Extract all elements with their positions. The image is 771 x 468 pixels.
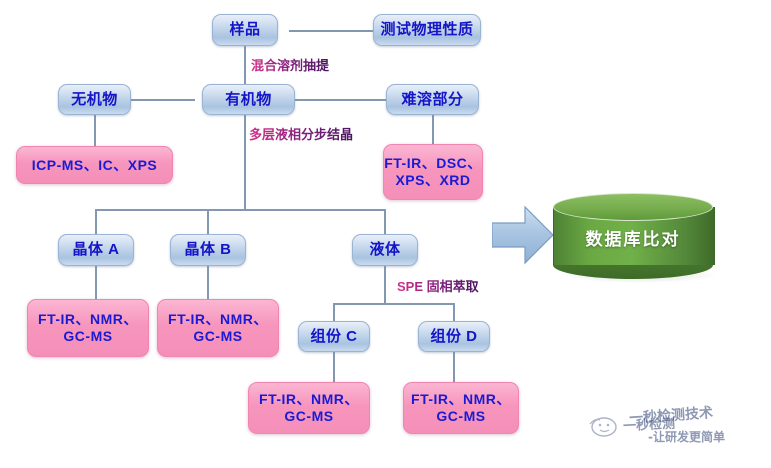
- node-insoluble-label: 难溶部分: [401, 91, 463, 109]
- connector-organic-to-insoluble: [295, 99, 386, 101]
- node-fraction-d[interactable]: 组份 D: [418, 321, 490, 352]
- techniques-inorganic-line-1: ICP-MS、IC、XPS: [32, 157, 158, 174]
- techniques-inorganic[interactable]: ICP-MS、IC、XPS: [16, 146, 173, 184]
- node-organic-label: 有机物: [225, 91, 272, 109]
- edge-label-solvent-extraction: 混合溶剂抽提: [251, 55, 329, 74]
- connector-crystal-b-to-techniques: [207, 265, 209, 299]
- node-physical-test-label: 测试物理性质: [380, 21, 473, 39]
- node-sample[interactable]: 样品: [212, 14, 278, 46]
- node-liquid[interactable]: 液体: [352, 234, 418, 266]
- connector-bus-to-crystal-b: [207, 209, 209, 235]
- techniques-fraction-d-line-2: GC-MS: [436, 408, 485, 425]
- node-physical-test[interactable]: 测试物理性质: [373, 14, 481, 46]
- node-inorganic-label: 无机物: [71, 91, 118, 109]
- techniques-fraction-c-line-2: GC-MS: [284, 408, 333, 425]
- techniques-fraction-c[interactable]: FT-IR、NMR、 GC-MS: [248, 382, 370, 434]
- watermark-face-logo-icon: [586, 412, 620, 438]
- techniques-crystal-a-line-1: FT-IR、NMR、: [38, 311, 138, 328]
- node-fraction-c-label: 组份 C: [310, 328, 357, 346]
- connector-spe-bus-bar: [333, 303, 454, 305]
- techniques-crystal-b-line-2: GC-MS: [193, 328, 242, 345]
- connector-fraction-c-to-techniques: [333, 352, 335, 382]
- edge-label-fractional-crystallization: 多层液相分步结晶: [249, 124, 353, 143]
- node-crystal-a[interactable]: 晶体 A: [58, 234, 134, 266]
- techniques-fraction-c-line-1: FT-IR、NMR、: [259, 391, 359, 408]
- database-cylinder[interactable]: 数据库比对: [553, 193, 713, 285]
- node-fraction-c[interactable]: 组份 C: [298, 321, 370, 352]
- node-crystal-a-label: 晶体 A: [72, 241, 119, 259]
- database-label: 数据库比对: [553, 215, 713, 259]
- techniques-fraction-d-line-1: FT-IR、NMR、: [411, 391, 511, 408]
- techniques-crystal-a[interactable]: FT-IR、NMR、 GC-MS: [27, 299, 149, 357]
- techniques-fraction-d[interactable]: FT-IR、NMR、 GC-MS: [403, 382, 519, 434]
- arrow-to-database-icon: [492, 205, 554, 265]
- connector-inorganic-to-organic: [131, 99, 195, 101]
- connector-spe-bus-to-fraction-c: [333, 303, 335, 321]
- flowchart-canvas: 样品 测试物理性质 无机物 有机物 难溶部分 晶体 A 晶体 B 液体 组份 C…: [0, 0, 771, 468]
- connector-crystal-a-to-techniques: [95, 265, 97, 299]
- techniques-insoluble-line-2: XPS、XRD: [395, 172, 470, 189]
- connector-sample-to-organic: [244, 46, 246, 86]
- node-organic[interactable]: 有机物: [202, 84, 295, 115]
- connector-organic-to-bus: [244, 114, 246, 209]
- node-crystal-b-label: 晶体 B: [184, 241, 231, 259]
- connector-bus-to-liquid: [384, 209, 386, 235]
- node-crystal-b[interactable]: 晶体 B: [170, 234, 246, 266]
- watermark-line-3: -让研发更简单: [648, 428, 725, 445]
- connector-spe-bus-to-fraction-d: [453, 303, 455, 321]
- techniques-insoluble[interactable]: FT-IR、DSC、 XPS、XRD: [383, 144, 483, 200]
- node-liquid-label: 液体: [369, 241, 400, 259]
- connector-sample-to-physical-test: [289, 30, 373, 32]
- connector-fraction-d-to-techniques: [453, 352, 455, 382]
- connector-bus-bar-organic: [95, 209, 385, 211]
- techniques-crystal-b[interactable]: FT-IR、NMR、 GC-MS: [157, 299, 279, 357]
- node-inorganic[interactable]: 无机物: [58, 84, 131, 115]
- techniques-crystal-a-line-2: GC-MS: [63, 328, 112, 345]
- techniques-crystal-b-line-1: FT-IR、NMR、: [168, 311, 268, 328]
- techniques-insoluble-line-1: FT-IR、DSC、: [384, 155, 482, 172]
- connector-inorganic-to-techniques: [94, 114, 96, 146]
- node-insoluble[interactable]: 难溶部分: [386, 84, 479, 115]
- connector-bus-to-crystal-a: [95, 209, 97, 235]
- node-fraction-d-label: 组份 D: [430, 328, 477, 346]
- connector-liquid-to-spe-bus: [384, 265, 386, 303]
- edge-label-spe: SPE 固相萃取: [397, 276, 479, 295]
- node-sample-label: 样品: [229, 21, 260, 39]
- connector-insoluble-to-techniques: [432, 114, 434, 144]
